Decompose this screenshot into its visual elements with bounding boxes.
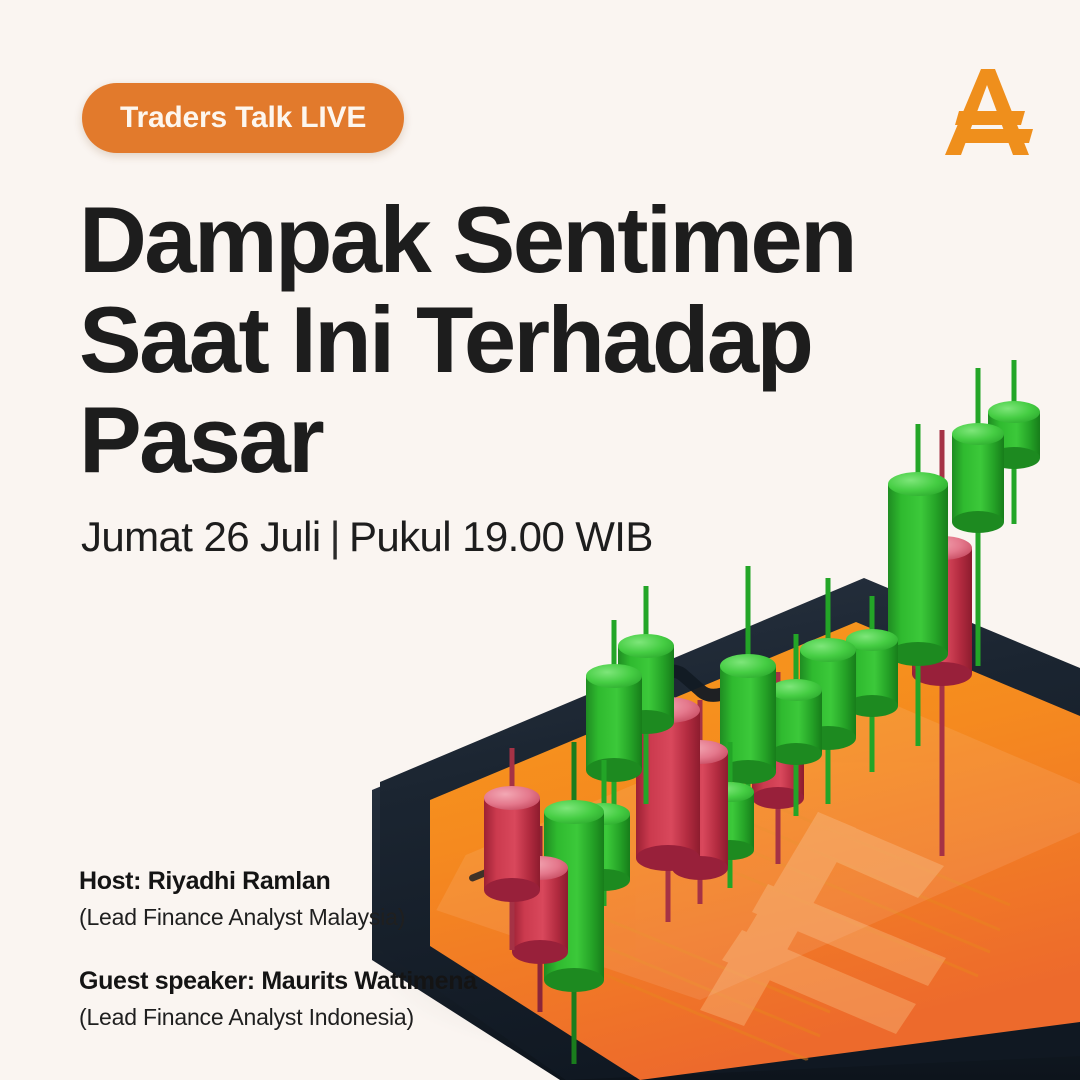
schedule-date: Jumat 26 Juli bbox=[81, 513, 321, 560]
headline-line-3: Pasar bbox=[79, 390, 839, 490]
brand-logo bbox=[933, 55, 1041, 163]
live-badge: Traders Talk LIVE bbox=[82, 83, 404, 153]
speakers-block: Host: Riyadhi Ramlan (Lead Finance Analy… bbox=[79, 866, 599, 1033]
headline-line-2: Saat Ini Terhadap bbox=[79, 290, 839, 390]
live-badge-label: Traders Talk LIVE bbox=[120, 101, 366, 135]
headline-line-1: Dampak Sentimen bbox=[79, 190, 839, 290]
brand-a-icon bbox=[933, 55, 1041, 163]
guest-role: (Lead Finance Analyst Indonesia) bbox=[79, 1003, 599, 1033]
schedule-time: Pukul 19.00 WIB bbox=[349, 513, 653, 560]
schedule-separator: | bbox=[321, 513, 349, 560]
host-entry: Host: Riyadhi Ramlan (Lead Finance Analy… bbox=[79, 866, 599, 932]
page-title: Dampak Sentimen Saat Ini Terhadap Pasar bbox=[79, 190, 839, 490]
host-name: Host: Riyadhi Ramlan bbox=[79, 866, 599, 898]
host-role: (Lead Finance Analyst Malaysia) bbox=[79, 903, 599, 933]
schedule-line: Jumat 26 Juli|Pukul 19.00 WIB bbox=[81, 513, 653, 561]
guest-name: Guest speaker: Maurits Wattimena bbox=[79, 966, 599, 998]
guest-entry: Guest speaker: Maurits Wattimena (Lead F… bbox=[79, 966, 599, 1032]
poster-canvas: Traders Talk LIVE Dampak Sentimen Saat I… bbox=[0, 0, 1080, 1080]
